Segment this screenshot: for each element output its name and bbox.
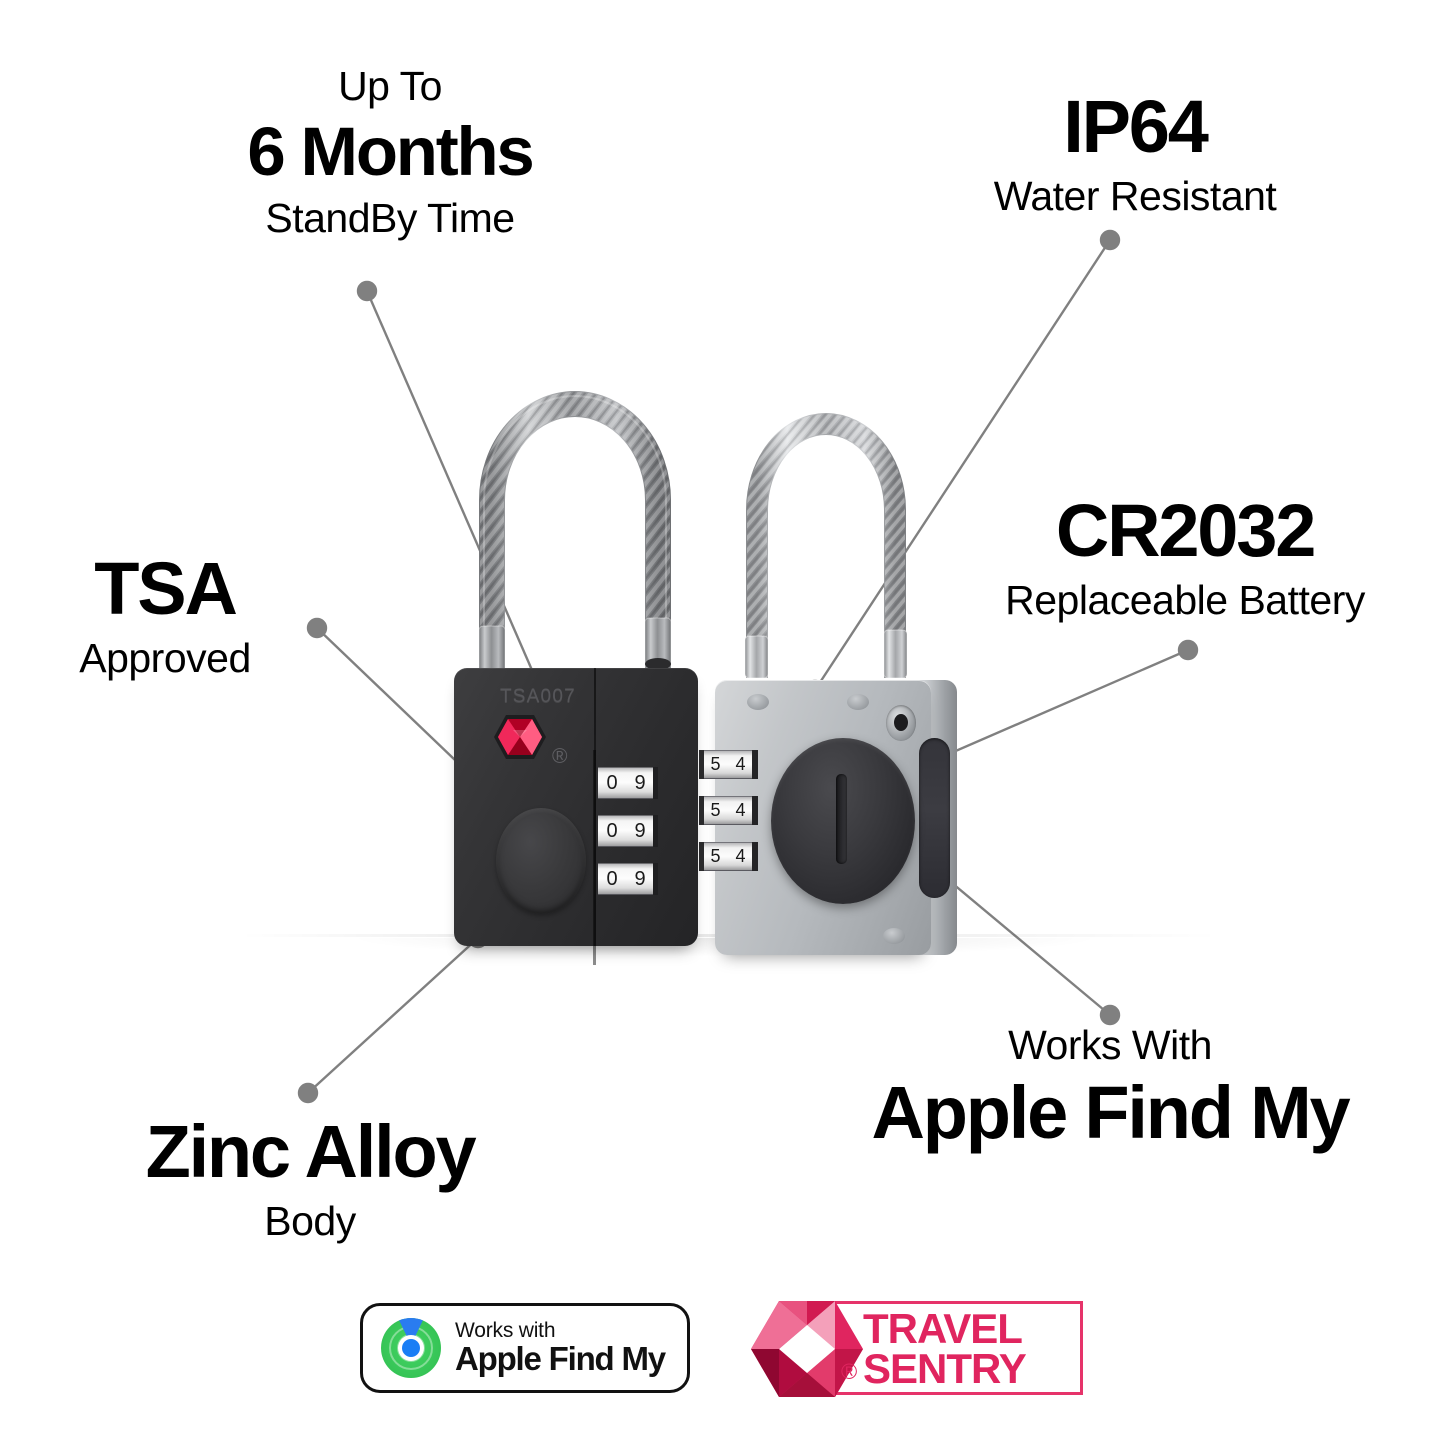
silver-lock-cable-shackle	[731, 368, 921, 678]
find-my-radar-icon	[381, 1318, 441, 1378]
black-dial-3-left: 0	[598, 868, 626, 891]
silver-dial-1-right: 4	[728, 754, 753, 775]
silver-dial-1-edge-right	[752, 750, 758, 779]
standby-eyebrow: Up To	[155, 66, 625, 107]
black-padlock: TSA007 ® 0 9 0	[450, 330, 700, 970]
travel-sentry-wordmark: TRAVEL SENTRY	[863, 1309, 1026, 1390]
silver-lock-screw-bottom	[883, 928, 905, 944]
silver-lock-dial-2[interactable]: 5 4	[703, 796, 753, 825]
silver-lock-knob-slot	[836, 774, 847, 864]
black-lock-cable-shackle	[462, 350, 688, 670]
ip64-headline: IP64	[915, 90, 1355, 164]
silver-dial-1-edge-left	[699, 750, 704, 779]
black-lock-tsa007-emboss: TSA007	[500, 686, 576, 708]
certification-badges: Works with Apple Find My	[0, 1295, 1445, 1420]
black-lock-dial-3[interactable]: 0 9	[598, 863, 654, 895]
standby-subtext: StandBy Time	[155, 198, 625, 239]
silver-dial-1-left: 5	[703, 754, 728, 775]
silver-lock-screw-top-left	[747, 694, 769, 710]
standby-headline: 6 Months	[155, 117, 625, 186]
feature-label-findmy: Works With Apple Find My	[820, 1025, 1400, 1150]
findmy-eyebrow: Works With	[820, 1025, 1400, 1066]
ip64-subtext: Water Resistant	[915, 176, 1355, 217]
zinc-subtext: Body	[85, 1201, 535, 1242]
black-lock-body	[454, 668, 698, 946]
tsa-gem-icon-black	[492, 712, 548, 762]
silver-padlock: ® 5 4 5 4 5	[705, 350, 965, 970]
black-lock-dial-1[interactable]: 0 9	[598, 767, 654, 799]
silver-dial-2-right: 4	[728, 800, 753, 821]
black-dial-1-edge	[653, 767, 658, 799]
silver-dial-3-edge-left	[699, 842, 704, 871]
travel-sentry-line1: TRAVEL	[863, 1309, 1026, 1349]
feature-label-ip64: IP64 Water Resistant	[915, 90, 1355, 217]
black-dial-3-edge	[653, 863, 658, 895]
silver-dial-3-edge-right	[752, 842, 758, 871]
silver-dial-3-right: 4	[728, 846, 753, 867]
product-image-group: TSA007 ® 0 9 0	[0, 330, 1445, 990]
black-lock-dial-group[interactable]: 0 9 0 9 0 9	[598, 767, 654, 911]
findmy-headline: Apple Find My	[820, 1076, 1400, 1150]
black-dial-2-edge	[653, 815, 658, 847]
tsa-registered-mark-black: ®	[552, 745, 567, 769]
silver-dial-2-edge-left	[699, 796, 704, 825]
travel-sentry-registered-mark: ®	[841, 1359, 857, 1385]
infographic-root: Up To 6 Months StandBy Time IP64 Water R…	[0, 0, 1445, 1445]
silver-lock-dial-3[interactable]: 5 4	[703, 842, 753, 871]
find-my-center-dot-icon	[402, 1339, 420, 1357]
silver-lock-screw-top-right	[847, 694, 869, 710]
works-with-apple-find-my-badge: Works with Apple Find My	[360, 1303, 690, 1393]
findmy-badge-line2: Apple Find My	[455, 1341, 665, 1377]
black-dial-2-left: 0	[598, 820, 626, 843]
black-lock-dial-slot	[593, 750, 596, 965]
silver-dial-2-left: 5	[703, 800, 728, 821]
silver-lock-dark-strip	[919, 738, 950, 898]
black-lock-dial-2[interactable]: 0 9	[598, 815, 654, 847]
travel-sentry-badge: TRAVEL SENTRY ®	[745, 1299, 1085, 1399]
black-dial-1-right: 9	[626, 772, 654, 795]
silver-lock-dial-group[interactable]: 5 4 5 4 5 4	[703, 750, 753, 888]
feature-label-standby: Up To 6 Months StandBy Time	[155, 66, 625, 239]
black-dial-3-right: 9	[626, 868, 654, 891]
feature-label-zinc: Zinc Alloy Body	[85, 1115, 535, 1242]
findmy-badge-line1: Works with	[455, 1320, 665, 1341]
zinc-headline: Zinc Alloy	[85, 1115, 535, 1189]
silver-dial-3-left: 5	[703, 846, 728, 867]
black-dial-1-left: 0	[598, 772, 626, 795]
travel-sentry-line2: SENTRY	[863, 1349, 1026, 1389]
black-lock-button[interactable]	[496, 808, 586, 914]
silver-lock-dial-1[interactable]: 5 4	[703, 750, 753, 779]
silver-dial-2-edge-right	[752, 796, 758, 825]
silver-lock-keyhole[interactable]	[886, 705, 916, 741]
black-dial-2-right: 9	[626, 820, 654, 843]
